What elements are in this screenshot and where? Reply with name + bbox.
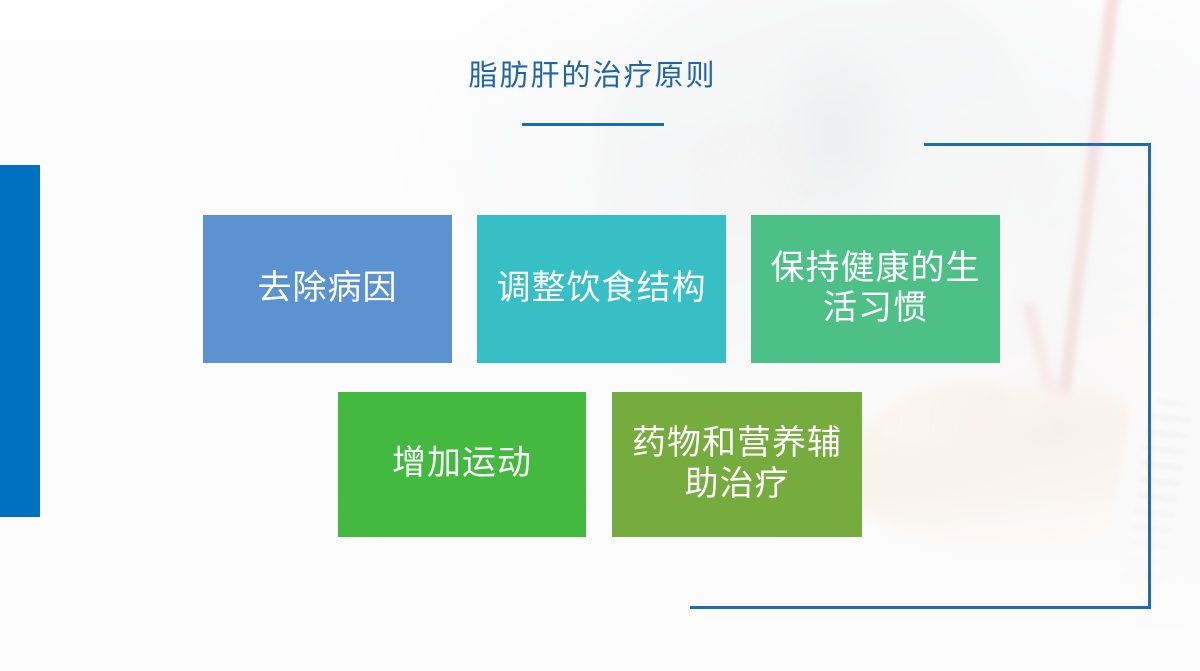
- slide-title: 脂肪肝的治疗原则: [0, 52, 1185, 94]
- frame-line-bottom: [690, 606, 1151, 609]
- frame-line-top: [924, 143, 1151, 146]
- content-box-medication-nutrition[interactable]: 药物和营养辅助治疗: [612, 392, 862, 537]
- content-box-healthy-lifestyle[interactable]: 保持健康的生活习惯: [751, 215, 1000, 363]
- content-box-increase-exercise[interactable]: 增加运动: [338, 392, 586, 537]
- content-box-adjust-diet[interactable]: 调整饮食结构: [477, 215, 726, 363]
- slide-canvas: 脂肪肝的治疗原则 去除病因 调整饮食结构 保持健康的生活习惯 增加运动 药物和营…: [0, 0, 1200, 671]
- content-box-remove-cause[interactable]: 去除病因: [203, 215, 452, 363]
- title-underline: [522, 123, 664, 126]
- frame-line-right: [1148, 143, 1151, 609]
- left-accent-bar: [0, 165, 40, 517]
